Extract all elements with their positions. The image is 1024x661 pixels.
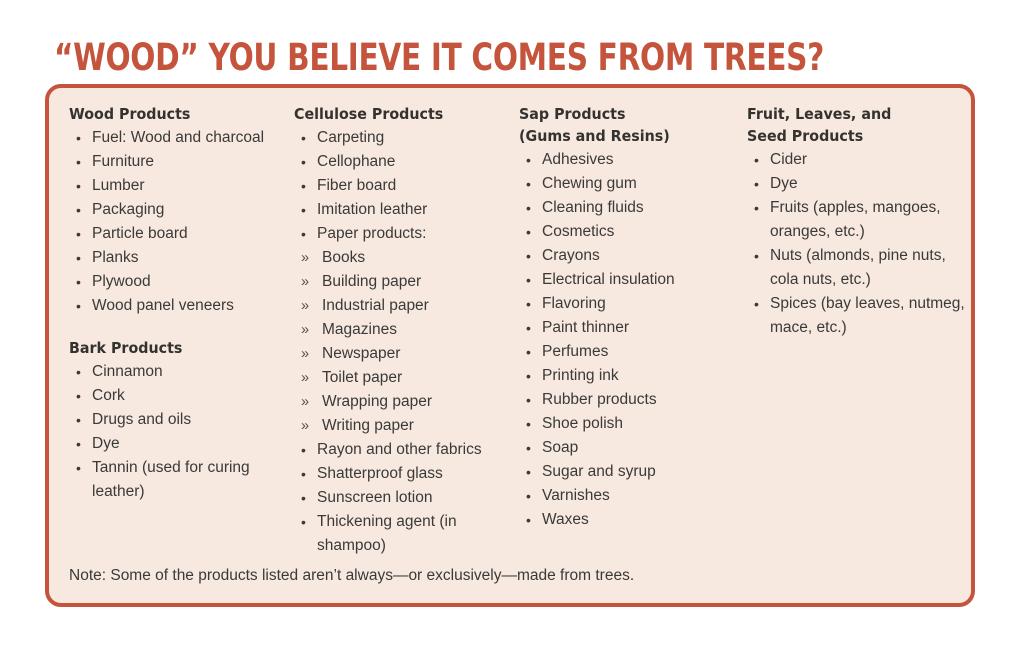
- list-item: Cinnamon: [69, 360, 294, 384]
- sublist-item: Magazines: [294, 318, 514, 342]
- section-heading-bark-products: Bark Products: [69, 338, 276, 358]
- column-fruit-leaves-seed: Fruit, Leaves, and Seed Products Cider D…: [747, 104, 969, 340]
- list-item: Varnishes: [519, 484, 734, 508]
- list-item: Thickening agent (in shampoo): [294, 510, 514, 558]
- section-heading-cellulose-products: Cellulose Products: [294, 104, 496, 124]
- list-item: Cleaning fluids: [519, 196, 734, 220]
- section-subheading-gums-and-resins: (Gums and Resins): [519, 126, 717, 146]
- list-item: Drugs and oils: [69, 408, 294, 432]
- list-item: Shoe polish: [519, 412, 734, 436]
- list-item: Sunscreen lotion: [294, 486, 514, 510]
- section-heading-fruit-leaves: Fruit, Leaves, and: [747, 104, 951, 124]
- sublist-paper-products: Books Building paper Industrial paper Ma…: [294, 246, 514, 438]
- list-item: Paper products:: [294, 222, 514, 246]
- sublist-item: Industrial paper: [294, 294, 514, 318]
- list-cellulose-products: Carpeting Cellophane Fiber board Imitati…: [294, 126, 514, 246]
- list-item: Spices (bay leaves, nutmeg, mace, etc.): [747, 292, 969, 340]
- list-item: Soap: [519, 436, 734, 460]
- list-item: Adhesives: [519, 148, 734, 172]
- list-item: Lumber: [69, 174, 294, 198]
- list-sap-products: Adhesives Chewing gum Cleaning fluids Co…: [519, 148, 734, 532]
- column-sap: Sap Products (Gums and Resins) Adhesives…: [519, 104, 734, 532]
- footnote: Note: Some of the products listed aren’t…: [69, 566, 634, 586]
- list-item: Shatterproof glass: [294, 462, 514, 486]
- list-item: Fuel: Wood and charcoal: [69, 126, 294, 150]
- list-item: Cosmetics: [519, 220, 734, 244]
- section-heading-seed-products: Seed Products: [747, 126, 951, 146]
- sublist-item: Building paper: [294, 270, 514, 294]
- list-item: Dye: [747, 172, 969, 196]
- infographic-poster: “WOOD” YOU BELIEVE IT COMES FROM TREES? …: [0, 0, 1024, 661]
- sublist-item: Toilet paper: [294, 366, 514, 390]
- column-wood-and-bark: Wood Products Fuel: Wood and charcoal Fu…: [69, 104, 294, 504]
- list-item: Flavoring: [519, 292, 734, 316]
- list-item: Perfumes: [519, 340, 734, 364]
- list-item: Cider: [747, 148, 969, 172]
- sublist-item: Books: [294, 246, 514, 270]
- list-wood-products: Fuel: Wood and charcoal Furniture Lumber…: [69, 126, 294, 318]
- list-item: Carpeting: [294, 126, 514, 150]
- list-item: Wood panel veneers: [69, 294, 294, 318]
- list-item: Cellophane: [294, 150, 514, 174]
- list-item: Plywood: [69, 270, 294, 294]
- list-item: Printing ink: [519, 364, 734, 388]
- list-item: Sugar and syrup: [519, 460, 734, 484]
- sublist-item: Newspaper: [294, 342, 514, 366]
- list-cellulose-products-continued: Rayon and other fabrics Shatterproof gla…: [294, 438, 514, 558]
- product-columns: Wood Products Fuel: Wood and charcoal Fu…: [49, 88, 971, 603]
- list-item: Chewing gum: [519, 172, 734, 196]
- section-heading-sap-products: Sap Products: [519, 104, 717, 124]
- list-item: Rubber products: [519, 388, 734, 412]
- list-item: Waxes: [519, 508, 734, 532]
- list-item: Crayons: [519, 244, 734, 268]
- list-item: Electrical insulation: [519, 268, 734, 292]
- list-item: Cork: [69, 384, 294, 408]
- list-item: Paint thinner: [519, 316, 734, 340]
- sublist-item: Wrapping paper: [294, 390, 514, 414]
- list-item: Tannin (used for curing leather): [69, 456, 294, 504]
- list-fruit-leaves-seed-products: Cider Dye Fruits (apples, mangoes, orang…: [747, 148, 969, 340]
- sublist-item: Writing paper: [294, 414, 514, 438]
- list-item: Fruits (apples, mangoes, oranges, etc.): [747, 196, 969, 244]
- list-item: Dye: [69, 432, 294, 456]
- list-bark-products: Cinnamon Cork Drugs and oils Dye Tannin …: [69, 360, 294, 504]
- column-cellulose: Cellulose Products Carpeting Cellophane …: [294, 104, 514, 558]
- list-item: Imitation leather: [294, 198, 514, 222]
- list-item: Planks: [69, 246, 294, 270]
- list-item: Particle board: [69, 222, 294, 246]
- section-heading-wood-products: Wood Products: [69, 104, 276, 124]
- products-card: Wood Products Fuel: Wood and charcoal Fu…: [45, 84, 975, 607]
- list-item: Fiber board: [294, 174, 514, 198]
- list-item: Nuts (almonds, pine nuts, cola nuts, etc…: [747, 244, 969, 292]
- list-item: Rayon and other fabrics: [294, 438, 514, 462]
- list-item: Packaging: [69, 198, 294, 222]
- page-title: “WOOD” YOU BELIEVE IT COMES FROM TREES?: [54, 38, 824, 78]
- list-item: Furniture: [69, 150, 294, 174]
